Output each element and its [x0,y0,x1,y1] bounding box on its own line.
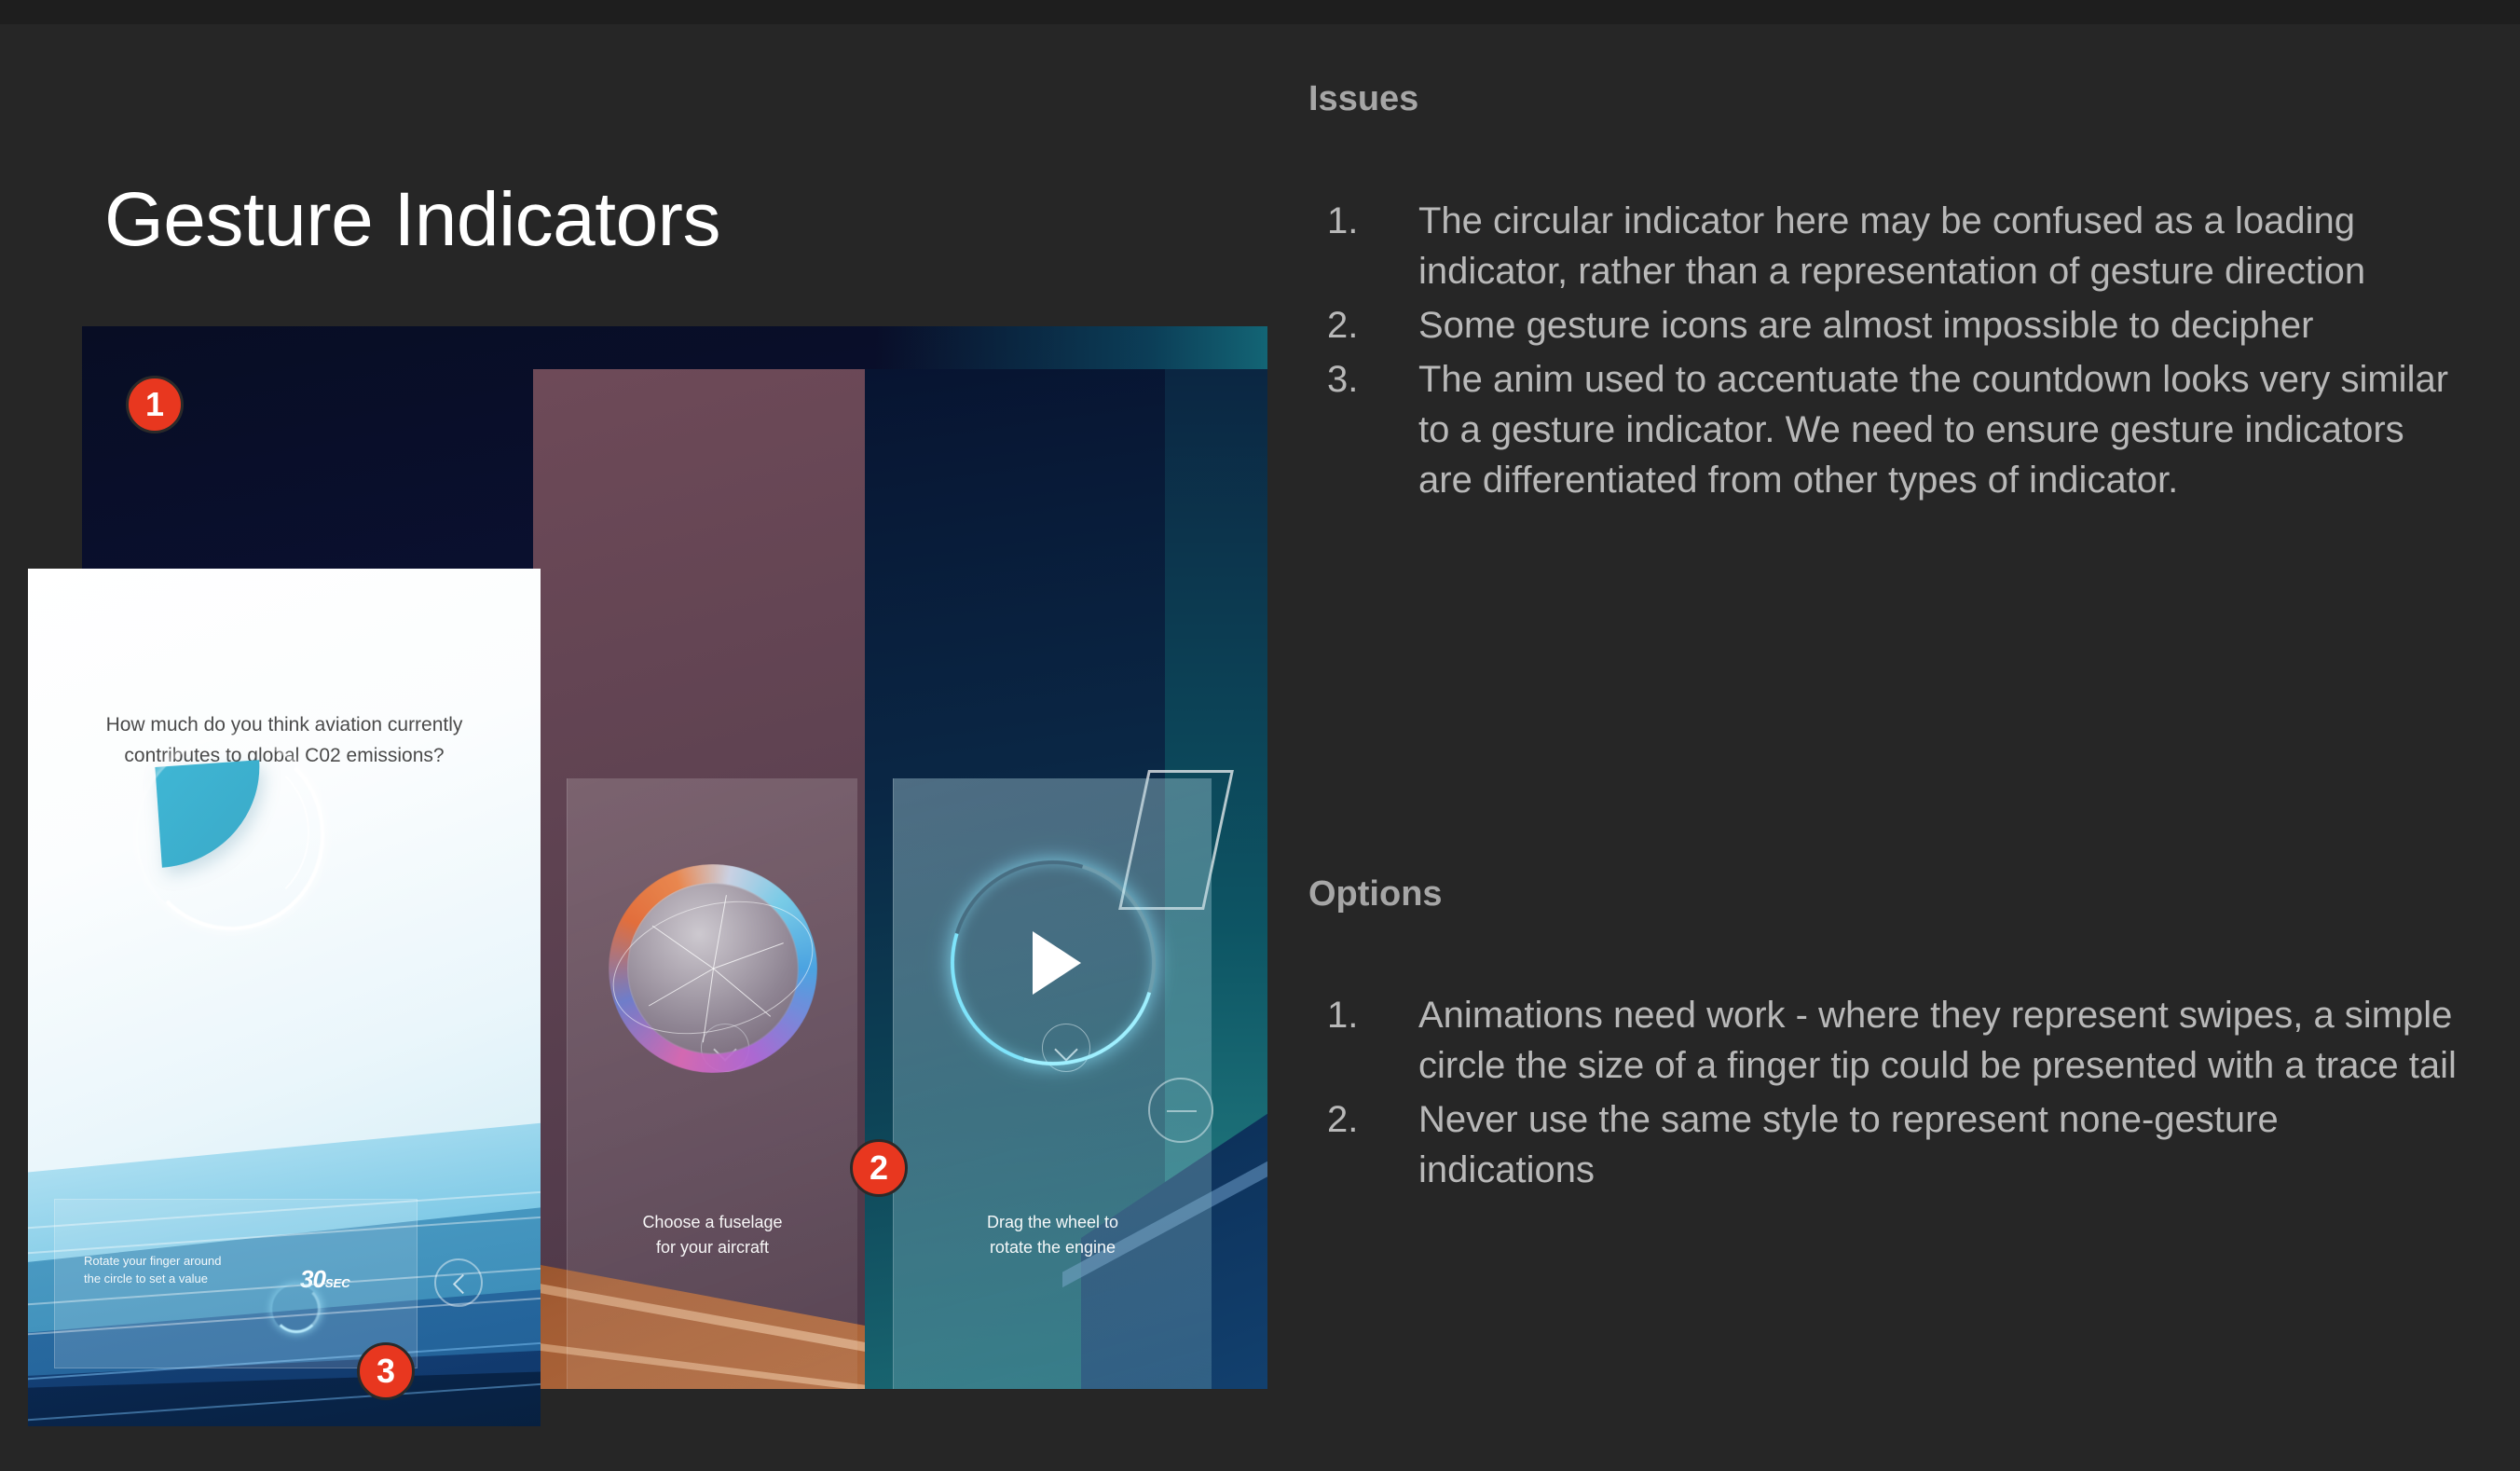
issues-item-1-number: 1. [1327,196,1418,296]
rotate-hint-line2: the circle to set a value [84,1271,221,1288]
engine-caption-line1: Drag the wheel to [894,1210,1212,1235]
issues-heading: Issues [1308,79,1418,119]
issues-item-1-text: The circular indicator here may be confu… [1418,196,2464,296]
rotate-hint-line1: Rotate your finger around [84,1253,221,1271]
slide-root: Gesture Indicators [0,0,2520,1471]
mockup-composition: Choose a fuselage for your aircraft Drag… [0,317,1305,1426]
countdown-spark-icon [272,1285,321,1333]
list-item: 2. Never use the same style to represent… [1327,1094,2464,1195]
fuselage-caption-line2: for your aircraft [568,1235,857,1260]
list-item: 2. Some gesture icons are almost impossi… [1327,300,2464,351]
issues-item-3-text: The anim used to accentuate the countdow… [1418,354,2464,505]
page-title: Gesture Indicators [104,182,720,258]
gauge-indicator[interactable] [149,750,363,965]
engine-ring-indicator[interactable] [951,860,1156,1065]
engine-caption-line2: rotate the engine [894,1235,1212,1260]
fuselage-card: Choose a fuselage for your aircraft [567,778,857,1389]
annotation-badge-2[interactable]: 2 [850,1139,908,1197]
back-circle-icon[interactable] [434,1258,483,1307]
options-item-1-text: Animations need work - where they repres… [1418,990,2464,1091]
annotation-badge-1[interactable]: 1 [126,376,184,433]
fuselage-caption-line1: Choose a fuselage [568,1210,857,1235]
issues-item-2-number: 2. [1327,300,1418,351]
engine-card: Drag the wheel to rotate the engine [893,778,1212,1389]
timer-unit: SEC [325,1276,350,1290]
fuselage-caption: Choose a fuselage for your aircraft [568,1210,857,1260]
list-item: 1. The circular indicator here may be co… [1327,196,2464,296]
play-icon[interactable] [1033,931,1081,995]
annotation-badge-3[interactable]: 3 [357,1342,415,1400]
notes-panel: Issues 1. The circular indicator here ma… [1308,0,2520,1471]
issues-list: 1. The circular indicator here may be co… [1327,196,2464,509]
options-heading: Options [1308,874,1443,914]
list-item: 3. The anim used to accentuate the count… [1327,354,2464,505]
issues-item-3-number: 3. [1327,354,1418,505]
issues-item-2-text: Some gesture icons are almost impossible… [1418,300,2313,351]
options-list: 1. Animations need work - where they rep… [1327,990,2464,1199]
list-item: 1. Animations need work - where they rep… [1327,990,2464,1091]
options-item-1-number: 1. [1327,990,1418,1091]
fuselage-wheel-indicator[interactable] [609,864,817,1073]
engine-caption: Drag the wheel to rotate the engine [894,1210,1212,1260]
aviation-question-line1: How much do you think aviation currently [28,710,541,741]
rotate-hint: Rotate your finger around the circle to … [84,1253,221,1288]
gauge-arc-inner [153,752,309,913]
screen-panel-white: How much do you think aviation currently… [28,569,541,1426]
options-item-2-number: 2. [1327,1094,1418,1195]
options-item-2-text: Never use the same style to represent no… [1418,1094,2464,1195]
